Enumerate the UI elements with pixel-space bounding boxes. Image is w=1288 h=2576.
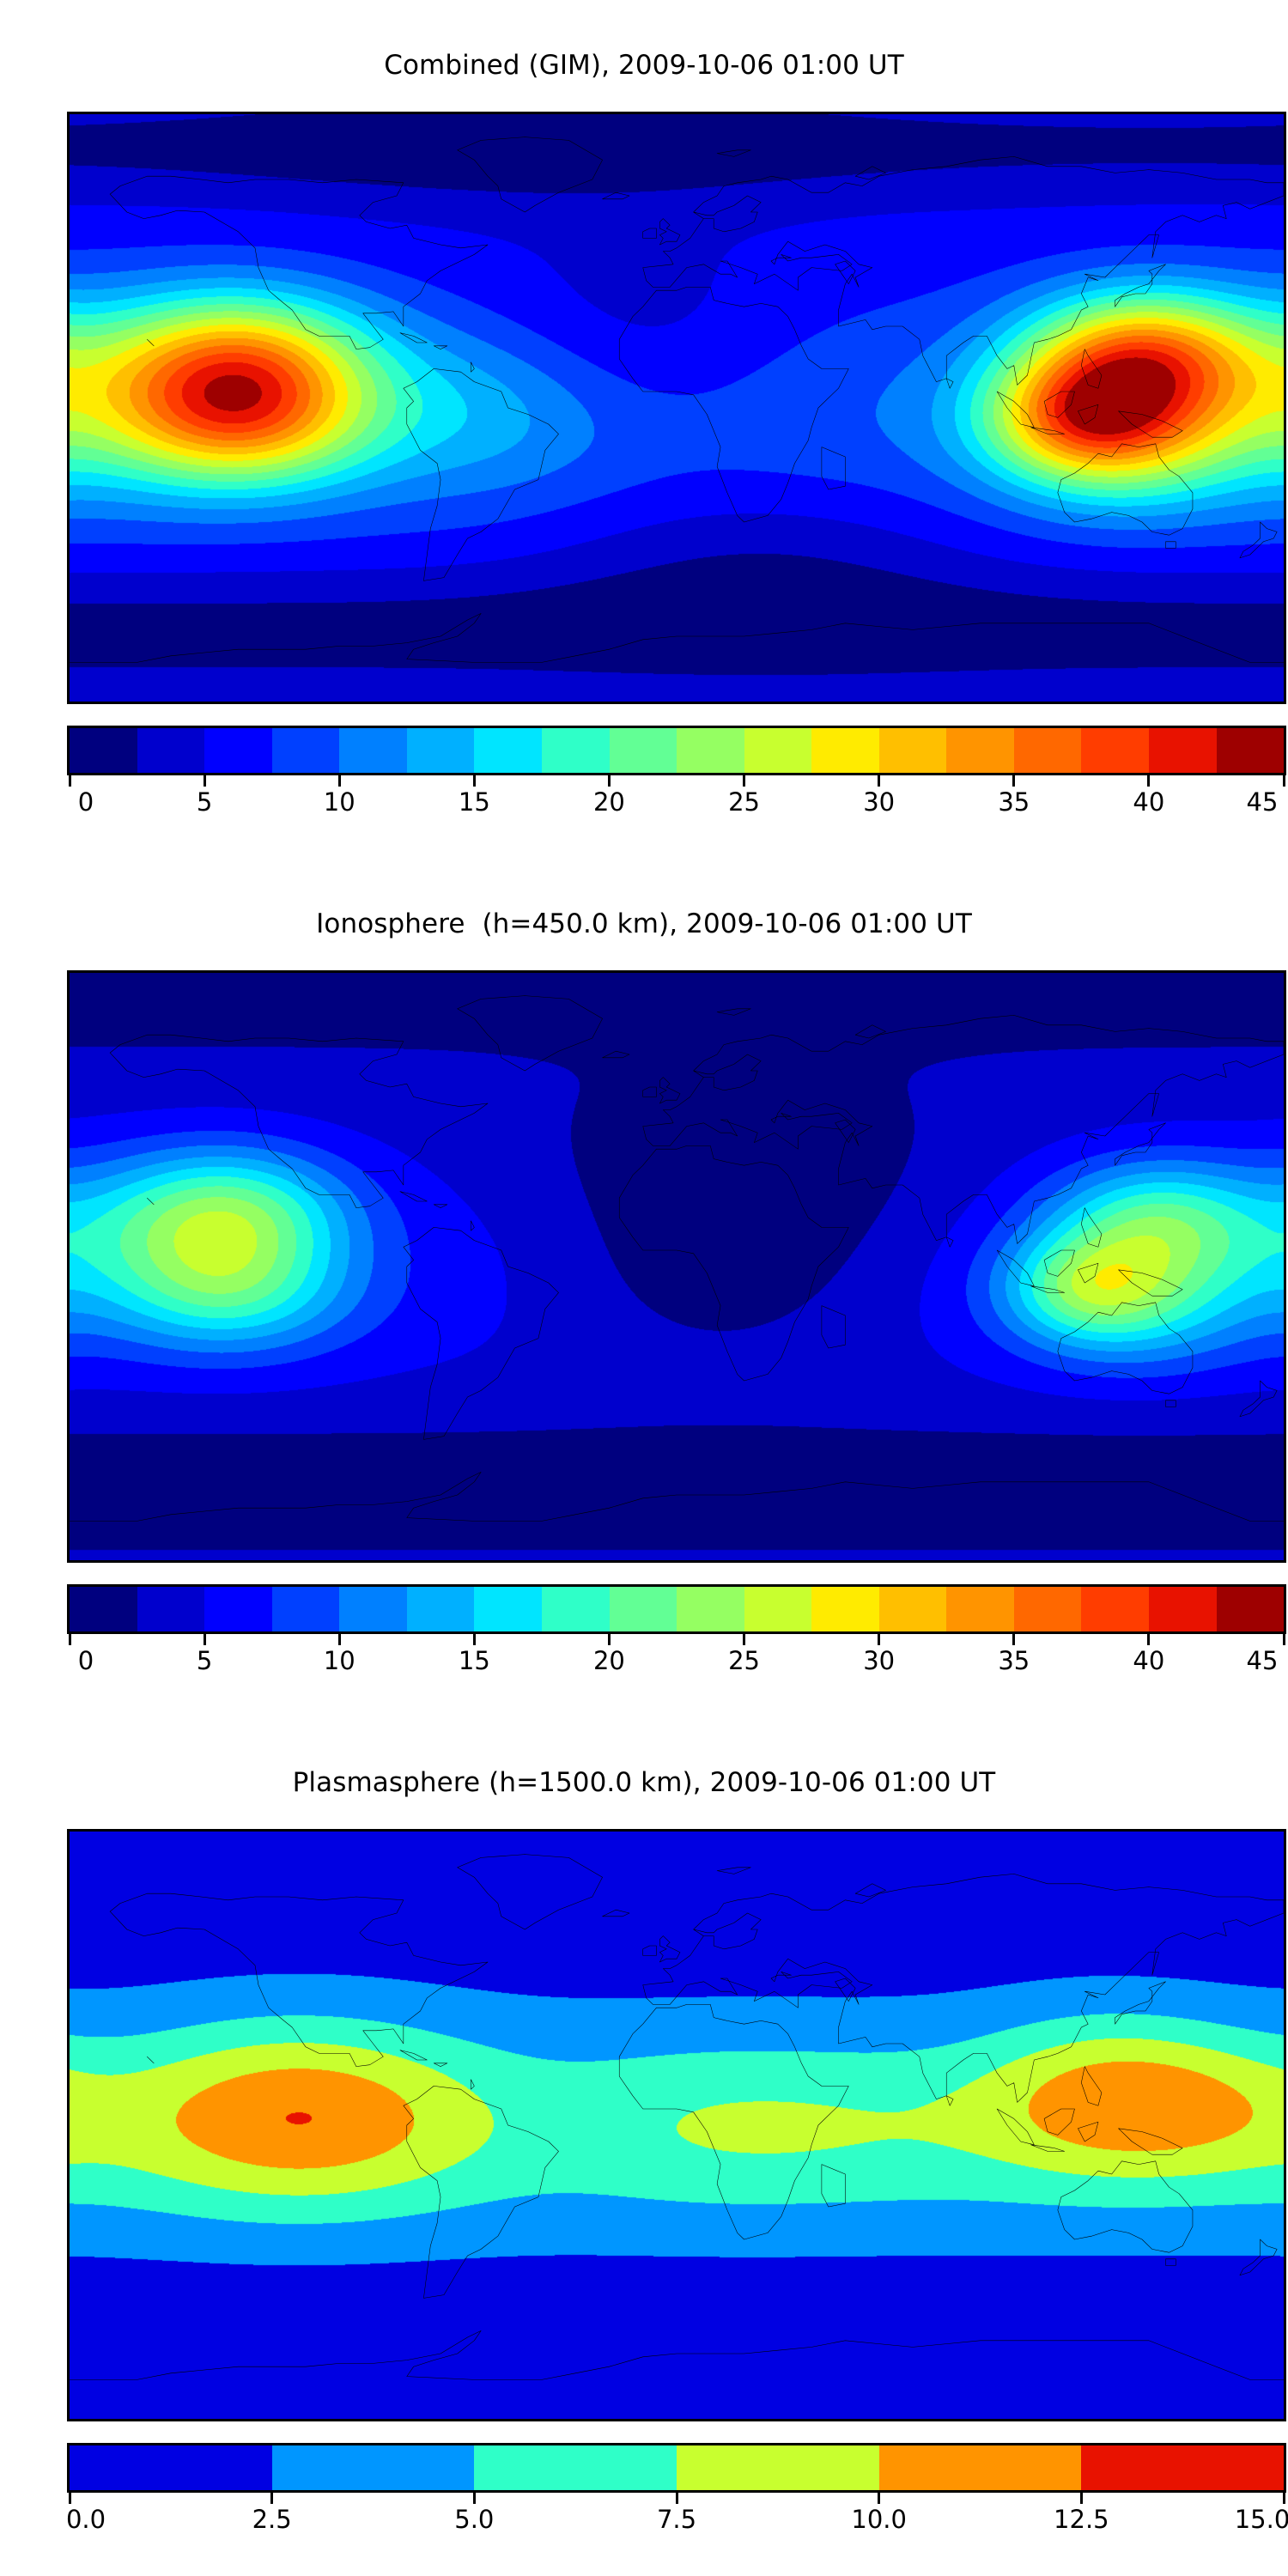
colorbar-tick-label: 15 (459, 1646, 490, 1675)
colorbar-segment (946, 728, 1014, 773)
coastline-path (404, 1227, 559, 1439)
coastline-path (434, 346, 447, 349)
coastline-path (1030, 1286, 1064, 1293)
colorbar-segment (70, 1587, 137, 1631)
colorbar-tick (338, 775, 341, 787)
coastline-path (458, 1855, 603, 1929)
colorbar-tick (743, 775, 745, 787)
colorbar-segment (879, 2445, 1082, 2490)
coastline-path (1081, 2067, 1102, 2106)
colorbar-tick (69, 2493, 71, 2504)
colorbar-tick-label: 10 (324, 787, 355, 817)
colorbar-tick-label: 30 (863, 787, 895, 817)
colorbar-tick (878, 2493, 880, 2504)
coastline-path (458, 996, 603, 1071)
coastline-path (946, 1237, 953, 1247)
coastline-path (946, 2096, 953, 2105)
panel-title-combined-gim: Combined (GIM), 2009-10-06 01:00 UT (0, 50, 1288, 81)
coastline-path (110, 1035, 488, 1207)
coastline-path (471, 2080, 474, 2089)
colorbar-segment (677, 728, 744, 773)
colorbar-segment (339, 728, 407, 773)
coastline-path (1115, 1982, 1166, 2024)
coastline-path (997, 392, 1034, 428)
colorbar-segment (946, 1587, 1014, 1631)
colorbar-segment (879, 728, 947, 773)
coastline-path (659, 1936, 680, 1962)
colorbar-segment (879, 1587, 947, 1631)
coastline-path (400, 1192, 427, 1201)
coastline-path (643, 1015, 1284, 1243)
coastline-path (147, 1198, 154, 1205)
coastline-path (643, 1946, 657, 1955)
colorbar-segment (137, 1587, 205, 1631)
coastline-path (659, 1078, 680, 1103)
coastline-path (404, 368, 559, 580)
colorbar-tick-label: 40 (1133, 787, 1164, 817)
coastline-path (404, 2086, 559, 2298)
coastline-path (855, 1025, 885, 1038)
colorbar-segment (542, 1587, 610, 1631)
colorbar-ionosphere: 051015202530354045 (67, 1584, 1286, 1634)
coastline-path (1115, 264, 1166, 307)
colorbar-segment (1081, 1587, 1149, 1631)
coastline-path (1166, 1400, 1176, 1407)
coastline-path (1058, 2161, 1193, 2252)
panel-plasmasphere: Plasmasphere (h=1500.0 km), 2009-10-06 0… (0, 1717, 1288, 2576)
coastline-path (603, 1051, 629, 1058)
colorbar-tick (1147, 775, 1150, 787)
colorbar-tick-label: 30 (863, 1646, 895, 1675)
colorbar-tick (338, 1634, 341, 1645)
coastline-path (717, 1868, 750, 1874)
coastline-path (400, 333, 427, 343)
coastline-path (1119, 2129, 1183, 2154)
map-plasmasphere (67, 1829, 1286, 2421)
coastline-path (822, 1306, 845, 1348)
colorbar-tick-label: 5 (197, 787, 212, 817)
coastline-path (1078, 2122, 1098, 2142)
colorbar-tick (1012, 775, 1015, 787)
colorbar-tick (1283, 775, 1285, 787)
colorbar-segment (744, 1587, 812, 1631)
coastline-path (1058, 444, 1193, 535)
colorbar-tick (69, 775, 71, 787)
colorbar-tick-label: 10.0 (851, 2505, 907, 2534)
coastline-path (717, 1009, 750, 1016)
coastline-path (1081, 349, 1102, 389)
colorbar-tick-label: 2.5 (252, 2505, 292, 2534)
coastlines-combined-gim (70, 114, 1284, 702)
colorbar-tick-label: 12.5 (1054, 2505, 1109, 2534)
colorbar-segment (1149, 728, 1217, 773)
coastline-path (1044, 392, 1074, 417)
coastline-path (434, 1205, 447, 1208)
colorbar-tick-label: 35 (998, 1646, 1030, 1675)
coastline-path (70, 2330, 1284, 2379)
colorbar-tick (608, 775, 611, 787)
colorbar-tick (878, 1634, 880, 1645)
colorbar-tick (1283, 2493, 1285, 2504)
colorbar-tick-label: 15 (459, 787, 490, 817)
colorbar-plasmasphere: 0.02.55.07.510.012.515.0 (67, 2443, 1286, 2493)
colorbar-segment (677, 2445, 879, 2490)
colorbar-segment (811, 728, 879, 773)
map-combined-gim (67, 112, 1286, 704)
coastline-path (147, 2057, 154, 2063)
coastline-path (1044, 2109, 1074, 2135)
colorbar-strip-combined-gim (67, 726, 1286, 775)
coastline-path (1166, 2259, 1176, 2266)
colorbar-tick (473, 2493, 476, 2504)
coastline-path (110, 176, 488, 349)
colorbar-tick-label: 0.0 (66, 2505, 106, 2534)
colorbar-tick-label: 0 (78, 1646, 94, 1675)
coastline-path (643, 228, 657, 238)
coastline-path (1030, 428, 1064, 434)
colorbar-segment (474, 728, 542, 773)
coastline-path (619, 1145, 848, 1381)
colorbar-tick-label: 35 (998, 787, 1030, 817)
colorbar-segment (610, 728, 677, 773)
coastline-path (70, 613, 1284, 662)
coastline-path (1119, 411, 1183, 437)
coastline-path (835, 1978, 856, 2002)
coastline-path (471, 362, 474, 372)
coastline-path (946, 379, 953, 388)
coastline-path (659, 219, 680, 245)
colorbar-strip-ionosphere (67, 1584, 1286, 1634)
colorbar-tick (1147, 1634, 1150, 1645)
colorbar-segment (1217, 1587, 1285, 1631)
panel-ionosphere: Ionosphere (h=450.0 km), 2009-10-06 01:0… (0, 859, 1288, 1717)
colorbar-tick (1283, 1634, 1285, 1645)
colorbar-segment (407, 1587, 475, 1631)
coastline-path (458, 137, 603, 212)
coastline-path (1044, 1250, 1074, 1276)
colorbar-segment (474, 2445, 677, 2490)
colorbar-segment (1081, 2445, 1284, 2490)
coastline-path (997, 1250, 1034, 1286)
coastline-path (855, 167, 885, 179)
colorbar-tick (676, 2493, 678, 2504)
coastline-path (643, 156, 1284, 385)
colorbar-segment (339, 1587, 407, 1631)
coastline-path (1115, 1123, 1166, 1165)
coastline-path (835, 1120, 856, 1143)
coastline-path (1078, 1263, 1098, 1283)
colorbar-segment (1014, 728, 1082, 773)
coastline-path (619, 2004, 848, 2239)
coastline-path (822, 2165, 845, 2207)
panel-title-plasmasphere: Plasmasphere (h=1500.0 km), 2009-10-06 0… (0, 1767, 1288, 1798)
coastlines-plasmasphere (70, 1832, 1284, 2419)
colorbar-tick (270, 2493, 273, 2504)
coastline-path (1078, 404, 1098, 424)
figure-canvas: Combined (GIM), 2009-10-06 01:00 UT 0510… (0, 0, 1288, 2576)
colorbar-segment (272, 728, 340, 773)
coastline-path (603, 192, 629, 199)
colorbar-segment (744, 728, 812, 773)
colorbar-segment (677, 1587, 744, 1631)
colorbar-tick (473, 1634, 476, 1645)
colorbar-segment (474, 1587, 542, 1631)
colorbar-tick-label: 5 (197, 1646, 212, 1675)
coastline-path (643, 1087, 657, 1097)
colorbar-segment (811, 1587, 879, 1631)
coastline-path (643, 1874, 1284, 2102)
coastline-path (1240, 522, 1277, 558)
colorbar-segment (137, 728, 205, 773)
colorbar-tick-label: 10 (324, 1646, 355, 1675)
panel-combined-gim: Combined (GIM), 2009-10-06 01:00 UT 0510… (0, 0, 1288, 859)
colorbar-segment (1217, 728, 1285, 773)
coastline-path (835, 261, 856, 284)
colorbar-strip-plasmasphere (67, 2443, 1286, 2493)
coastline-path (434, 2063, 447, 2067)
colorbar-segment (272, 1587, 340, 1631)
colorbar-tick-label: 7.5 (657, 2505, 696, 2534)
coastline-path (603, 1910, 629, 1917)
colorbar-tick-label: 0 (78, 787, 94, 817)
map-ionosphere (67, 970, 1286, 1563)
coastline-path (1166, 542, 1176, 549)
coastline-path (1240, 2239, 1277, 2275)
colorbar-tick-label: 25 (728, 1646, 760, 1675)
colorbar-tick-label: 20 (593, 787, 625, 817)
colorbar-tick (204, 1634, 206, 1645)
panel-title-ionosphere: Ionosphere (h=450.0 km), 2009-10-06 01:0… (0, 908, 1288, 939)
colorbar-tick-label: 25 (728, 787, 760, 817)
colorbar-tick (1012, 1634, 1015, 1645)
colorbar-tick-label: 45 (1247, 787, 1279, 817)
colorbar-segment (272, 2445, 475, 2490)
coastlines-ionosphere (70, 973, 1284, 1560)
colorbar-tick-label: 45 (1247, 1646, 1279, 1675)
colorbar-tick (743, 1634, 745, 1645)
colorbar-tick (878, 775, 880, 787)
colorbar-tick-label: 40 (1133, 1646, 1164, 1675)
coastline-path (400, 2050, 427, 2060)
colorbar-tick-label: 5.0 (454, 2505, 494, 2534)
colorbar-segment (1014, 1587, 1082, 1631)
colorbar-tick-label: 15.0 (1235, 2505, 1288, 2534)
coastline-path (1119, 1270, 1183, 1296)
colorbar-tick (608, 1634, 611, 1645)
coastline-path (822, 447, 845, 489)
colorbar-segment (70, 728, 137, 773)
colorbar-segment (1081, 728, 1149, 773)
coastline-path (147, 339, 154, 346)
colorbar-tick (1080, 2493, 1083, 2504)
colorbar-segment (610, 1587, 677, 1631)
colorbar-segment (204, 728, 272, 773)
coastline-path (855, 1884, 885, 1897)
colorbar-tick (69, 1634, 71, 1645)
coastline-path (1081, 1208, 1102, 1248)
colorbar-segment (70, 2445, 272, 2490)
coastline-path (1058, 1303, 1193, 1394)
coastline-path (1240, 1381, 1277, 1417)
colorbar-segment (1149, 1587, 1217, 1631)
colorbar-segment (407, 728, 475, 773)
colorbar-segment (204, 1587, 272, 1631)
colorbar-combined-gim: 051015202530354045 (67, 726, 1286, 775)
coastline-path (471, 1221, 474, 1230)
colorbar-segment (542, 728, 610, 773)
colorbar-tick (473, 775, 476, 787)
coastline-path (717, 150, 750, 157)
colorbar-tick-label: 20 (593, 1646, 625, 1675)
coastline-path (110, 1893, 488, 2066)
colorbar-tick (204, 775, 206, 787)
coastline-path (70, 1472, 1284, 1521)
coastline-path (619, 287, 848, 522)
coastline-path (1030, 2145, 1064, 2152)
coastline-path (997, 2109, 1034, 2145)
